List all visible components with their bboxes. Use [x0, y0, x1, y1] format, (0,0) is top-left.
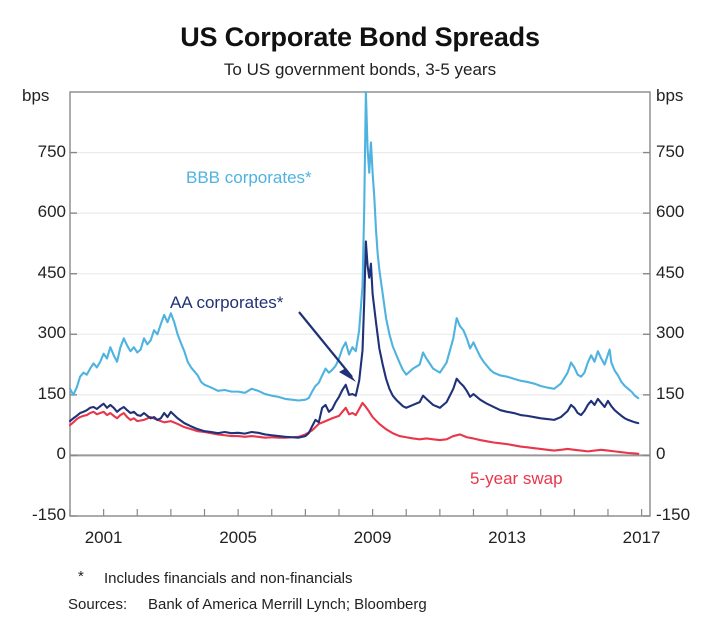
chart-container: US Corporate Bond Spreads To US governme…: [0, 0, 720, 642]
y-tick-label-right: -150: [656, 505, 716, 525]
x-tick-label: 2013: [472, 528, 542, 548]
x-tick-label: 2017: [607, 528, 677, 548]
y-tick-label-left: 450: [8, 263, 66, 283]
y-tick-label-left: -150: [8, 505, 66, 525]
y-tick-label-right: 750: [656, 142, 716, 162]
y-tick-label-left: 0: [8, 444, 66, 464]
series-line: [70, 241, 638, 437]
y-tick-label-left: 750: [8, 142, 66, 162]
plot-frame: [70, 92, 650, 516]
y-tick-label-right: 600: [656, 202, 716, 222]
x-tick-label: 2005: [203, 528, 273, 548]
series-label-aa: AA corporates*: [170, 293, 283, 313]
x-tick-label: 2001: [69, 528, 139, 548]
series-label-bbb: BBB corporates*: [186, 168, 312, 188]
footnote-asterisk: *: [78, 568, 84, 585]
y-tick-label-right: 450: [656, 263, 716, 283]
series-line: [70, 403, 638, 454]
y-tick-label-left: 300: [8, 323, 66, 343]
sources-text: Bank of America Merrill Lynch; Bloomberg: [148, 596, 427, 613]
y-tick-label-right: 0: [656, 444, 716, 464]
arrow-head: [339, 368, 356, 382]
series-line: [70, 92, 638, 401]
x-tick-label: 2009: [338, 528, 408, 548]
footnote-text: Includes financials and non-financials: [104, 570, 353, 587]
series-label-swap: 5-year swap: [470, 469, 563, 489]
y-tick-label-left: 150: [8, 384, 66, 404]
y-tick-label-right: 300: [656, 323, 716, 343]
sources-label: Sources:: [68, 596, 127, 613]
y-tick-label-right: 150: [656, 384, 716, 404]
y-tick-label-left: 600: [8, 202, 66, 222]
